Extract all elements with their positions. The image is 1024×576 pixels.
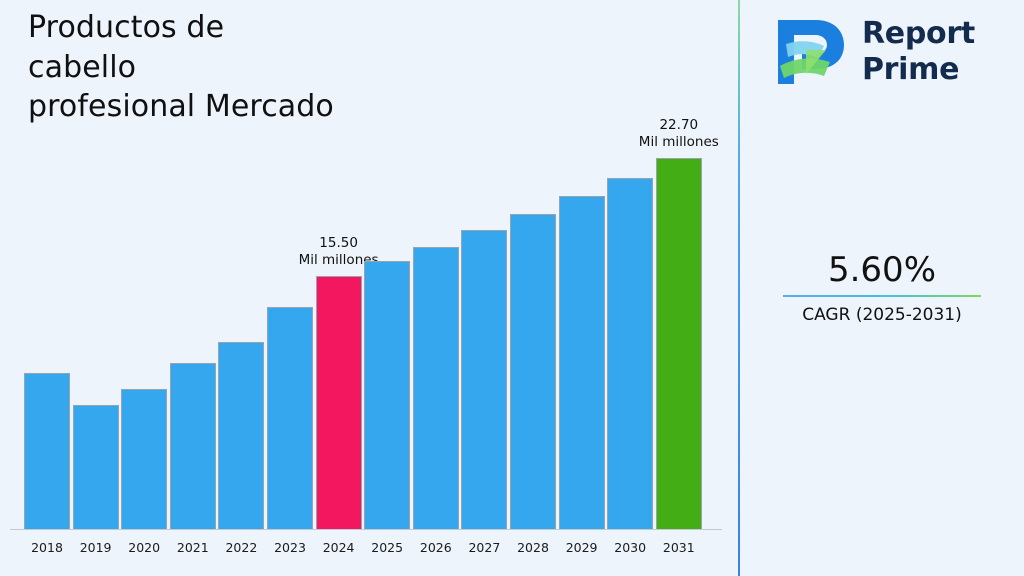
bar-value-label: 22.70 Mil millones — [599, 117, 759, 150]
x-tick-2031: 2031 — [649, 540, 709, 555]
bar-rect — [364, 261, 410, 530]
bar-rect — [461, 230, 507, 530]
bar-2024: 15.50 Mil millones — [316, 140, 362, 530]
bar-2031: 22.70 Mil millones — [656, 140, 702, 530]
report-prime-logo-mark — [772, 14, 850, 90]
bar-rect — [316, 276, 362, 530]
x-axis-tick-labels: 2018201920202021202220232024202520262027… — [10, 536, 730, 564]
bar-2028 — [510, 140, 556, 530]
bar-2027 — [461, 140, 507, 530]
bar-rect — [73, 405, 119, 530]
bar-rect — [218, 342, 264, 530]
page-title: Productos de cabello profesional Mercado — [28, 8, 334, 127]
bar-rect — [656, 158, 702, 530]
bar-2019 — [73, 140, 119, 530]
bar-rect — [170, 363, 216, 530]
cagr-block: 5.60% CAGR (2025-2031) — [740, 252, 1024, 325]
logo-text: Report Prime — [862, 16, 975, 88]
chart-page: Productos de cabello profesional Mercado… — [0, 0, 1024, 576]
cagr-caption: CAGR (2025-2031) — [740, 305, 1024, 325]
bar-2030 — [607, 140, 653, 530]
bar-2022 — [218, 140, 264, 530]
bar-rect — [267, 307, 313, 530]
bar-rect — [413, 247, 459, 530]
bar-2021 — [170, 140, 216, 530]
chart-panel: Productos de cabello profesional Mercado… — [0, 0, 738, 576]
report-prime-logo: Report Prime — [772, 12, 1002, 94]
bar-rect — [607, 178, 653, 530]
bar-2020 — [121, 140, 167, 530]
bar-rect — [24, 373, 70, 530]
bar-2025 — [364, 140, 410, 530]
bar-chart-plot-area: 15.50 Mil millones22.70 Mil millones — [10, 140, 730, 530]
cagr-divider — [783, 295, 981, 297]
cagr-value: 5.60% — [740, 252, 1024, 289]
bar-2026 — [413, 140, 459, 530]
bar-2029 — [559, 140, 605, 530]
bar-rect — [121, 389, 167, 530]
x-axis-line — [10, 529, 722, 530]
brand-panel: Report Prime 5.60% CAGR (2025-2031) — [740, 0, 1024, 576]
bar-rect — [559, 196, 605, 530]
bar-rect — [510, 214, 556, 530]
bar-2023 — [267, 140, 313, 530]
bar-2018 — [24, 140, 70, 530]
